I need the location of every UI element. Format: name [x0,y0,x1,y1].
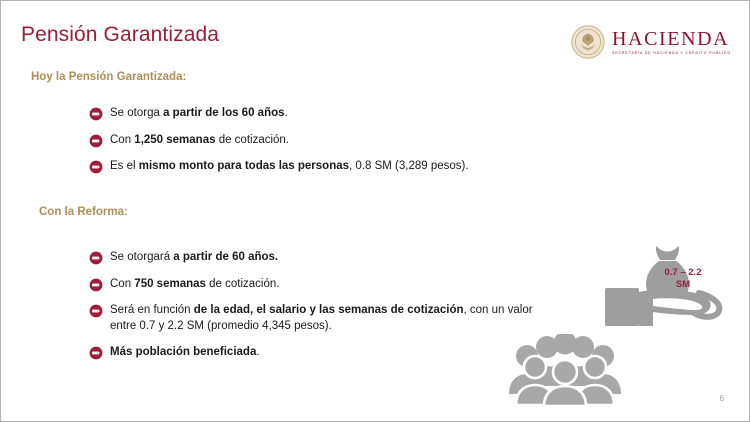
bullet-text: Más población beneficiada. [110,345,260,361]
bullet-text: Se otorgará a partir de 60 años. [110,250,278,266]
hacienda-logo: HACIENDA SECRETARÍA DE HACIENDA Y CRÉDIT… [571,25,731,59]
circle-arrow-icon [89,107,103,121]
bullet-text: Será en función de la edad, el salario y… [110,303,539,334]
circle-arrow-icon [89,304,103,318]
group-of-people-icon [505,334,625,406]
bullet-item: Será en función de la edad, el salario y… [89,303,539,334]
circle-arrow-icon [89,278,103,292]
bullet-item: Con 750 semanas de cotización. [89,277,539,293]
mexican-coat-of-arms-icon [571,25,605,59]
bullet-item: Se otorgará a partir de 60 años. [89,250,539,266]
circle-arrow-icon [89,251,103,265]
bullet-item: Es el mismo monto para todas las persona… [89,159,559,175]
bullet-text: Es el mismo monto para todas las persona… [110,159,469,175]
circle-arrow-icon [89,134,103,148]
section-heading-hoy: Hoy la Pensión Garantizada: [31,71,186,83]
slide-canvas: Pensión Garantizada HACIENDA SECRETARÍA … [0,0,750,422]
bullet-text: Se otorga a partir de los 60 años. [110,106,288,122]
bullet-list-hoy: Se otorga a partir de los 60 años.Con 1,… [89,106,559,175]
money-bag-value-label: 0.7 – 2.2 SM [651,267,715,291]
money-bag-value-unit: SM [676,279,690,290]
bullet-item: Se otorga a partir de los 60 años. [89,106,559,122]
logo-wordmark: HACIENDA [612,29,729,49]
bullet-item: Con 1,250 semanas de cotización. [89,133,559,149]
money-bag-value-range: 0.7 – 2.2 [665,267,702,278]
circle-arrow-icon [89,160,103,174]
logo-subtitle: SECRETARÍA DE HACIENDA Y CRÉDITO PÚBLICO [612,52,731,56]
logo-wordmark-group: HACIENDA SECRETARÍA DE HACIENDA Y CRÉDIT… [612,29,731,56]
bullet-list-reforma: Se otorgará a partir de 60 años.Con 750 … [89,250,539,361]
page-number: 6 [720,394,724,403]
section-heading-reforma: Con la Reforma: [39,206,128,218]
bullet-text: Con 750 semanas de cotización. [110,277,279,293]
bullet-item: Más población beneficiada. [89,345,539,361]
circle-arrow-icon [89,346,103,360]
page-title: Pensión Garantizada [21,23,219,47]
bullet-text: Con 1,250 semanas de cotización. [110,133,289,149]
